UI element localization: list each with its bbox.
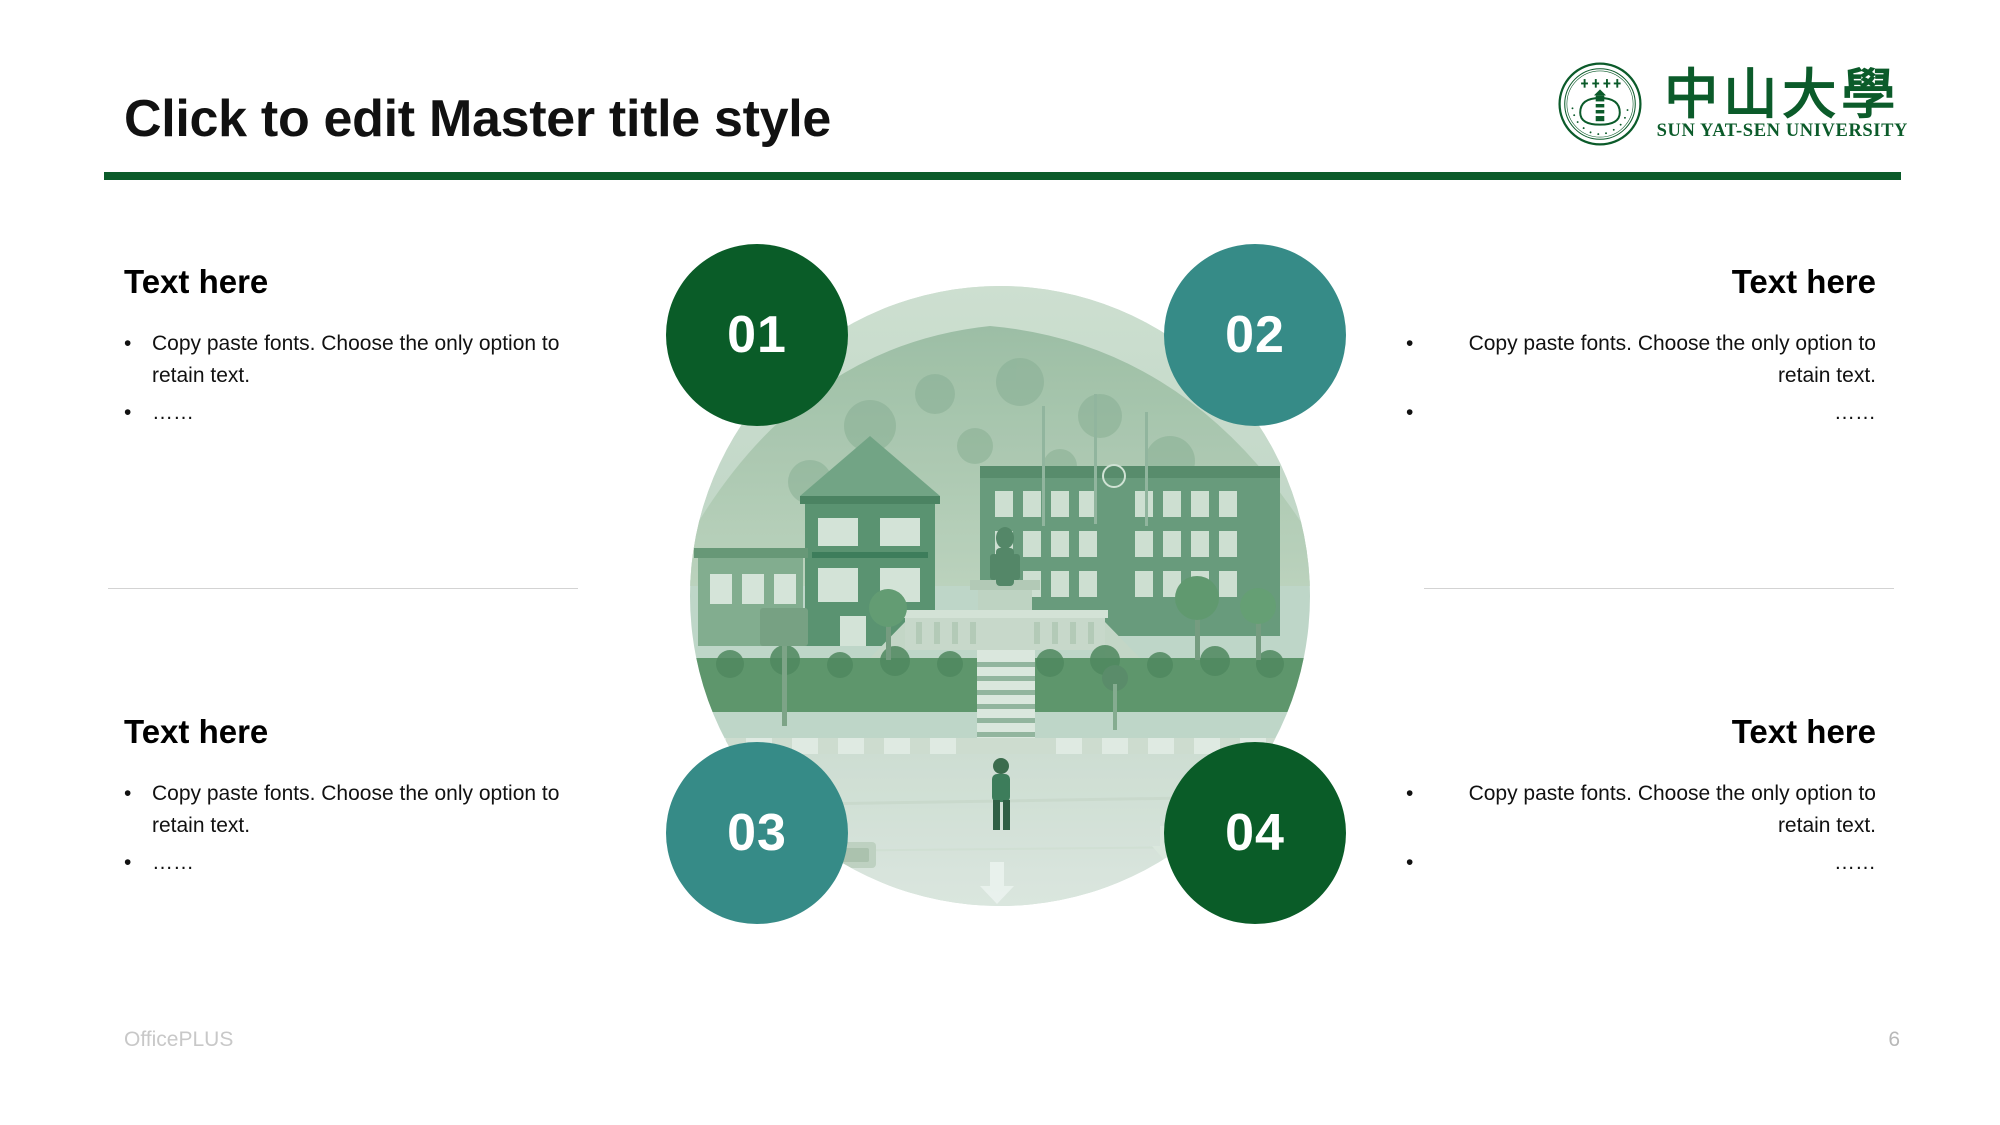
step-circle-03[interactable]: 03 [666, 742, 848, 924]
list-item[interactable]: • Copy paste fonts. Choose the only opti… [1406, 778, 1876, 843]
block-heading[interactable]: Text here [1406, 262, 1876, 302]
title-underline-rule [104, 172, 1901, 180]
bullet-marker: • [1406, 778, 1436, 811]
bullet-text: …… [1436, 397, 1876, 430]
text-block-bottom-left: Text here • Copy paste fonts. Choose the… [124, 712, 594, 883]
bullet-marker: • [124, 397, 152, 430]
text-block-bottom-right: Text here • Copy paste fonts. Choose the… [1406, 712, 1876, 883]
bullet-text: …… [1436, 847, 1876, 880]
step-circle-01[interactable]: 01 [666, 244, 848, 426]
bullet-marker: • [1406, 397, 1436, 430]
bullet-list: • Copy paste fonts. Choose the only opti… [124, 328, 594, 430]
bullet-marker: • [1406, 847, 1436, 880]
slide-header: Click to edit Master title style [0, 0, 2000, 186]
step-circle-02[interactable]: 02 [1164, 244, 1346, 426]
logo-english-name: SUN YAT-SEN UNIVERSITY [1657, 122, 1908, 141]
slide-number: 6 [1888, 1028, 1900, 1052]
bullet-list: • Copy paste fonts. Choose the only opti… [1406, 328, 1876, 430]
bullet-list: • Copy paste fonts. Choose the only opti… [1406, 778, 1876, 880]
logo-chinese-name: 中山大學 [1664, 67, 1900, 121]
list-item[interactable]: • …… [124, 847, 594, 880]
university-logo: 中山大學 SUN YAT-SEN UNIVERSITY [1557, 54, 1908, 154]
step-circle-04[interactable]: 04 [1164, 742, 1346, 924]
bullet-text: Copy paste fonts. Choose the only option… [152, 328, 594, 393]
step-circle-label: 02 [1225, 305, 1285, 365]
page-title[interactable]: Click to edit Master title style [124, 92, 831, 147]
bullet-marker: • [1406, 328, 1436, 361]
text-block-top-left: Text here • Copy paste fonts. Choose the… [124, 262, 594, 433]
list-item[interactable]: • Copy paste fonts. Choose the only opti… [124, 778, 594, 843]
section-divider-right [1424, 588, 1894, 589]
list-item[interactable]: • Copy paste fonts. Choose the only opti… [124, 328, 594, 393]
university-seal-icon [1557, 61, 1643, 147]
list-item[interactable]: • …… [1406, 847, 1876, 880]
bullet-text: …… [152, 847, 594, 880]
bullet-text: Copy paste fonts. Choose the only option… [1436, 328, 1876, 393]
logo-wordmark: 中山大學 SUN YAT-SEN UNIVERSITY [1657, 67, 1908, 141]
step-circle-label: 03 [727, 803, 787, 863]
bullet-text: Copy paste fonts. Choose the only option… [152, 778, 594, 843]
block-heading[interactable]: Text here [124, 262, 594, 302]
bullet-marker: • [124, 328, 152, 361]
block-heading[interactable]: Text here [1406, 712, 1876, 752]
block-heading[interactable]: Text here [124, 712, 594, 752]
text-block-top-right: Text here • Copy paste fonts. Choose the… [1406, 262, 1876, 433]
list-item[interactable]: • …… [1406, 397, 1876, 430]
bullet-list: • Copy paste fonts. Choose the only opti… [124, 778, 594, 880]
list-item[interactable]: • …… [124, 397, 594, 430]
footer-brand: OfficePLUS [124, 1028, 233, 1052]
bullet-text: Copy paste fonts. Choose the only option… [1436, 778, 1876, 843]
section-divider-left [108, 588, 578, 589]
step-circle-label: 04 [1225, 803, 1285, 863]
bullet-marker: • [124, 778, 152, 811]
list-item[interactable]: • Copy paste fonts. Choose the only opti… [1406, 328, 1876, 393]
step-circle-label: 01 [727, 305, 787, 365]
bullet-text: …… [152, 397, 594, 430]
center-artwork: 01 02 03 04 [690, 286, 1310, 906]
bullet-marker: • [124, 847, 152, 880]
